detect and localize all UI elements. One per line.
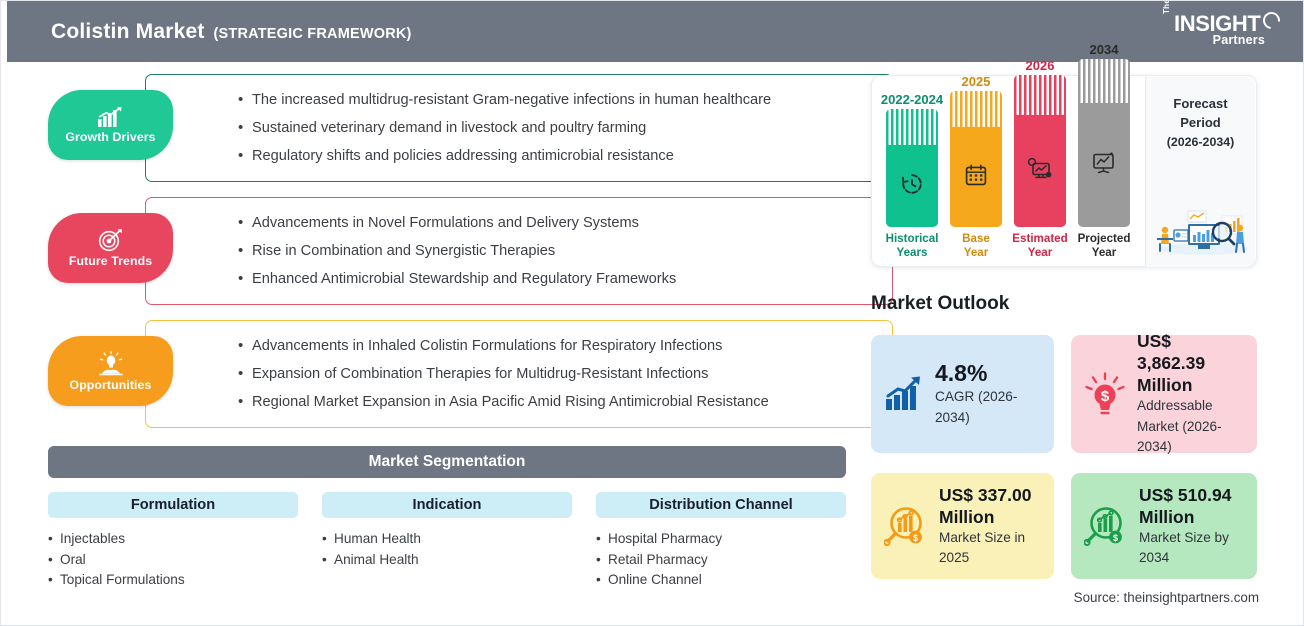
stat-value: US$ 337.00 Million	[939, 484, 1041, 528]
logo-the-text: The	[1162, 0, 1171, 14]
bar-stripes	[1078, 59, 1130, 103]
caption-line1: Projected	[1078, 232, 1131, 245]
clock-history-icon	[899, 171, 925, 202]
timeline-card: 2022-2024 Historical	[871, 75, 1257, 267]
timeline-year: 2034	[1090, 42, 1119, 57]
bar-stripes	[1014, 75, 1066, 115]
opportunities-list: Advancements in Inhaled Colistin Formula…	[238, 320, 888, 428]
calendar-icon	[964, 163, 988, 192]
analytics-gear-icon	[1026, 157, 1054, 186]
stat-card-addressable-market: $ US$ 3,862.39 Million Addressable Marke…	[1071, 335, 1257, 453]
timeline-bar-projected: 2034 P	[1078, 42, 1130, 260]
segment-item-list: Hospital Pharmacy Retail Pharmacy Online…	[596, 529, 846, 591]
forecast-line2: Period	[1180, 115, 1220, 130]
list-item: Hospital Pharmacy	[596, 529, 846, 550]
stat-label: Addressable Market (2026-2034)	[1137, 396, 1244, 458]
lightbulb-dollar-icon: $	[1084, 372, 1126, 416]
timeline-year: 2022-2024	[881, 92, 943, 107]
caption-line1: Estimated	[1012, 232, 1067, 245]
segment-item-list: Injectables Oral Topical Formulations	[48, 529, 298, 591]
segment-header: Formulation	[48, 492, 298, 518]
svg-text:$: $	[1101, 388, 1110, 405]
list-item: Regulatory shifts and policies addressin…	[238, 142, 888, 170]
forecast-line1: Forecast	[1173, 96, 1227, 111]
forecast-period-text: Forecast Period (2026-2034)	[1146, 94, 1255, 152]
caption-line2: Years	[897, 246, 928, 259]
segment-header-label: Distribution Channel	[649, 497, 793, 513]
stat-text-group: US$ 3,862.39 Million Addressable Market …	[1137, 330, 1244, 458]
list-item: Injectables	[48, 529, 298, 550]
stat-text-group: US$ 510.94 Million Market Size by 2034	[1139, 484, 1244, 569]
timeline-year: 2025	[962, 74, 991, 89]
segment-column-indication: Indication Human Health Animal Health	[322, 492, 572, 591]
lightbulb-hand-icon	[96, 351, 126, 376]
panel-opportunities: Opportunities Advancements in Inhaled Co…	[48, 320, 848, 428]
stat-label: Market Size by 2034	[1139, 528, 1244, 569]
timeline-bar-base: 2025	[950, 74, 1002, 260]
list-item: Oral	[48, 550, 298, 571]
bar-solid	[886, 145, 938, 227]
badge-opportunities[interactable]: Opportunities	[48, 336, 173, 406]
market-segmentation-section: Market Segmentation Formulation Injectab…	[48, 446, 846, 591]
badge-growth-drivers[interactable]: Growth Drivers	[48, 90, 173, 160]
segment-column-distribution-channel: Distribution Channel Hospital Pharmacy R…	[596, 492, 846, 591]
stat-card-market-size-2034: $ US$ 510.94 Million Market Size by 2034	[1071, 473, 1257, 579]
presentation-chart-icon	[1090, 151, 1118, 180]
bar-stripes	[950, 91, 1002, 127]
segmentation-title: Market Segmentation	[369, 453, 526, 471]
stat-text-group: 4.8% CAGR (2026-2034)	[935, 360, 1041, 428]
logo-circle-icon	[1260, 9, 1284, 33]
caption-line1: Historical	[886, 232, 939, 245]
list-item: Online Channel	[596, 570, 846, 591]
timeline-bars: 2022-2024 Historical	[886, 84, 1134, 260]
forecast-period-panel: Forecast Period (2026-2034)	[1145, 77, 1255, 267]
bar-stripes	[886, 109, 938, 145]
panel-future-trends: Future Trends Advancements in Novel Form…	[48, 197, 848, 305]
header-title-group: Colistin Market (STRATEGIC FRAMEWORK)	[51, 20, 412, 44]
list-item: Retail Pharmacy	[596, 550, 846, 571]
panel-growth-drivers: Growth Drivers The increased multidrug-r…	[48, 74, 848, 182]
insight-partners-logo: The INSIGHT Partners	[1161, 11, 1281, 53]
growth-chart-arrow-icon	[884, 375, 924, 413]
timeline-caption: Base Year	[962, 232, 990, 260]
list-item: Animal Health	[322, 550, 572, 571]
timeline-caption: Estimated Year	[1012, 232, 1067, 260]
timeline-bar-shape	[1014, 75, 1066, 227]
badge-future-trends[interactable]: Future Trends	[48, 213, 173, 283]
stat-text-group: US$ 337.00 Million Market Size in 2025	[939, 484, 1041, 569]
list-item: Sustained veterinary demand in livestock…	[238, 114, 888, 142]
list-item: Advancements in Novel Formulations and D…	[238, 209, 888, 237]
bar-solid	[1078, 103, 1130, 227]
segment-header-label: Formulation	[131, 497, 215, 513]
magnifier-chart-dollar-icon: $	[1084, 505, 1128, 547]
timeline-bar-shape	[886, 109, 938, 227]
growth-drivers-list: The increased multidrug-resistant Gram-n…	[238, 74, 888, 182]
bar-chart-growth-icon	[96, 106, 126, 128]
stat-value: US$ 510.94 Million	[1139, 484, 1244, 528]
segmentation-columns: Formulation Injectables Oral Topical For…	[48, 492, 846, 591]
logo-partners-text: Partners	[1213, 33, 1265, 47]
forecast-range: (2026-2034)	[1167, 135, 1235, 149]
caption-line2: Year	[964, 246, 989, 259]
segment-header: Indication	[322, 492, 572, 518]
segment-item-list: Human Health Animal Health	[322, 529, 572, 570]
timeline-caption: Historical Years	[886, 232, 939, 260]
stat-label: CAGR (2026-2034)	[935, 387, 1041, 428]
segment-column-formulation: Formulation Injectables Oral Topical For…	[48, 492, 298, 591]
bar-solid	[950, 127, 1002, 227]
stat-value: 4.8%	[935, 360, 1041, 387]
page-subtitle: (STRATEGIC FRAMEWORK)	[214, 26, 412, 42]
list-item: Advancements in Inhaled Colistin Formula…	[238, 332, 888, 360]
timeline-bar-estimated: 2026	[1014, 58, 1066, 260]
list-item: Enhanced Antimicrobial Stewardship and R…	[238, 265, 888, 293]
magnifier-chart-dollar-icon: $	[884, 505, 928, 547]
svg-text:$: $	[1113, 533, 1118, 543]
stat-card-market-size-2025: $ US$ 337.00 Million Market Size in 2025	[871, 473, 1054, 579]
segment-header: Distribution Channel	[596, 492, 846, 518]
segment-header-label: Indication	[413, 497, 482, 513]
timeline-bar-historical: 2022-2024 Historical	[886, 92, 938, 260]
segmentation-title-bar: Market Segmentation	[48, 446, 846, 478]
infographic-page: Colistin Market (STRATEGIC FRAMEWORK) Th…	[0, 0, 1304, 626]
market-outlook-title: Market Outlook	[871, 293, 1009, 315]
badge-label: Opportunities	[70, 378, 152, 392]
stat-value: US$ 3,862.39 Million	[1137, 330, 1244, 396]
bar-solid	[1014, 115, 1066, 227]
list-item: Expansion of Combination Therapies for M…	[238, 360, 888, 388]
badge-label: Future Trends	[69, 254, 152, 268]
timeline-caption: Projected Year	[1078, 232, 1131, 260]
stat-card-cagr: 4.8% CAGR (2026-2034)	[871, 335, 1054, 453]
timeline-bar-shape	[1078, 59, 1130, 227]
source-attribution: Source: theinsightpartners.com	[1074, 590, 1259, 605]
list-item: The increased multidrug-resistant Gram-n…	[238, 86, 888, 114]
timeline-year: 2026	[1026, 58, 1055, 73]
list-item: Human Health	[322, 529, 572, 550]
timeline-bar-shape	[950, 91, 1002, 227]
target-dartboard-icon	[97, 228, 125, 252]
list-item: Rise in Combination and Synergistic Ther…	[238, 237, 888, 265]
svg-text:$: $	[913, 533, 918, 543]
caption-line2: Year	[1028, 246, 1053, 259]
badge-label: Growth Drivers	[65, 130, 155, 144]
future-trends-list: Advancements in Novel Formulations and D…	[238, 197, 888, 305]
page-title: Colistin Market	[51, 20, 205, 44]
stat-label: Market Size in 2025	[939, 528, 1041, 569]
caption-line2: Year	[1092, 246, 1117, 259]
caption-line1: Base	[962, 232, 990, 245]
analytics-dashboard-illustration	[1152, 194, 1250, 261]
list-item: Regional Market Expansion in Asia Pacifi…	[238, 388, 888, 416]
list-item: Topical Formulations	[48, 570, 298, 591]
